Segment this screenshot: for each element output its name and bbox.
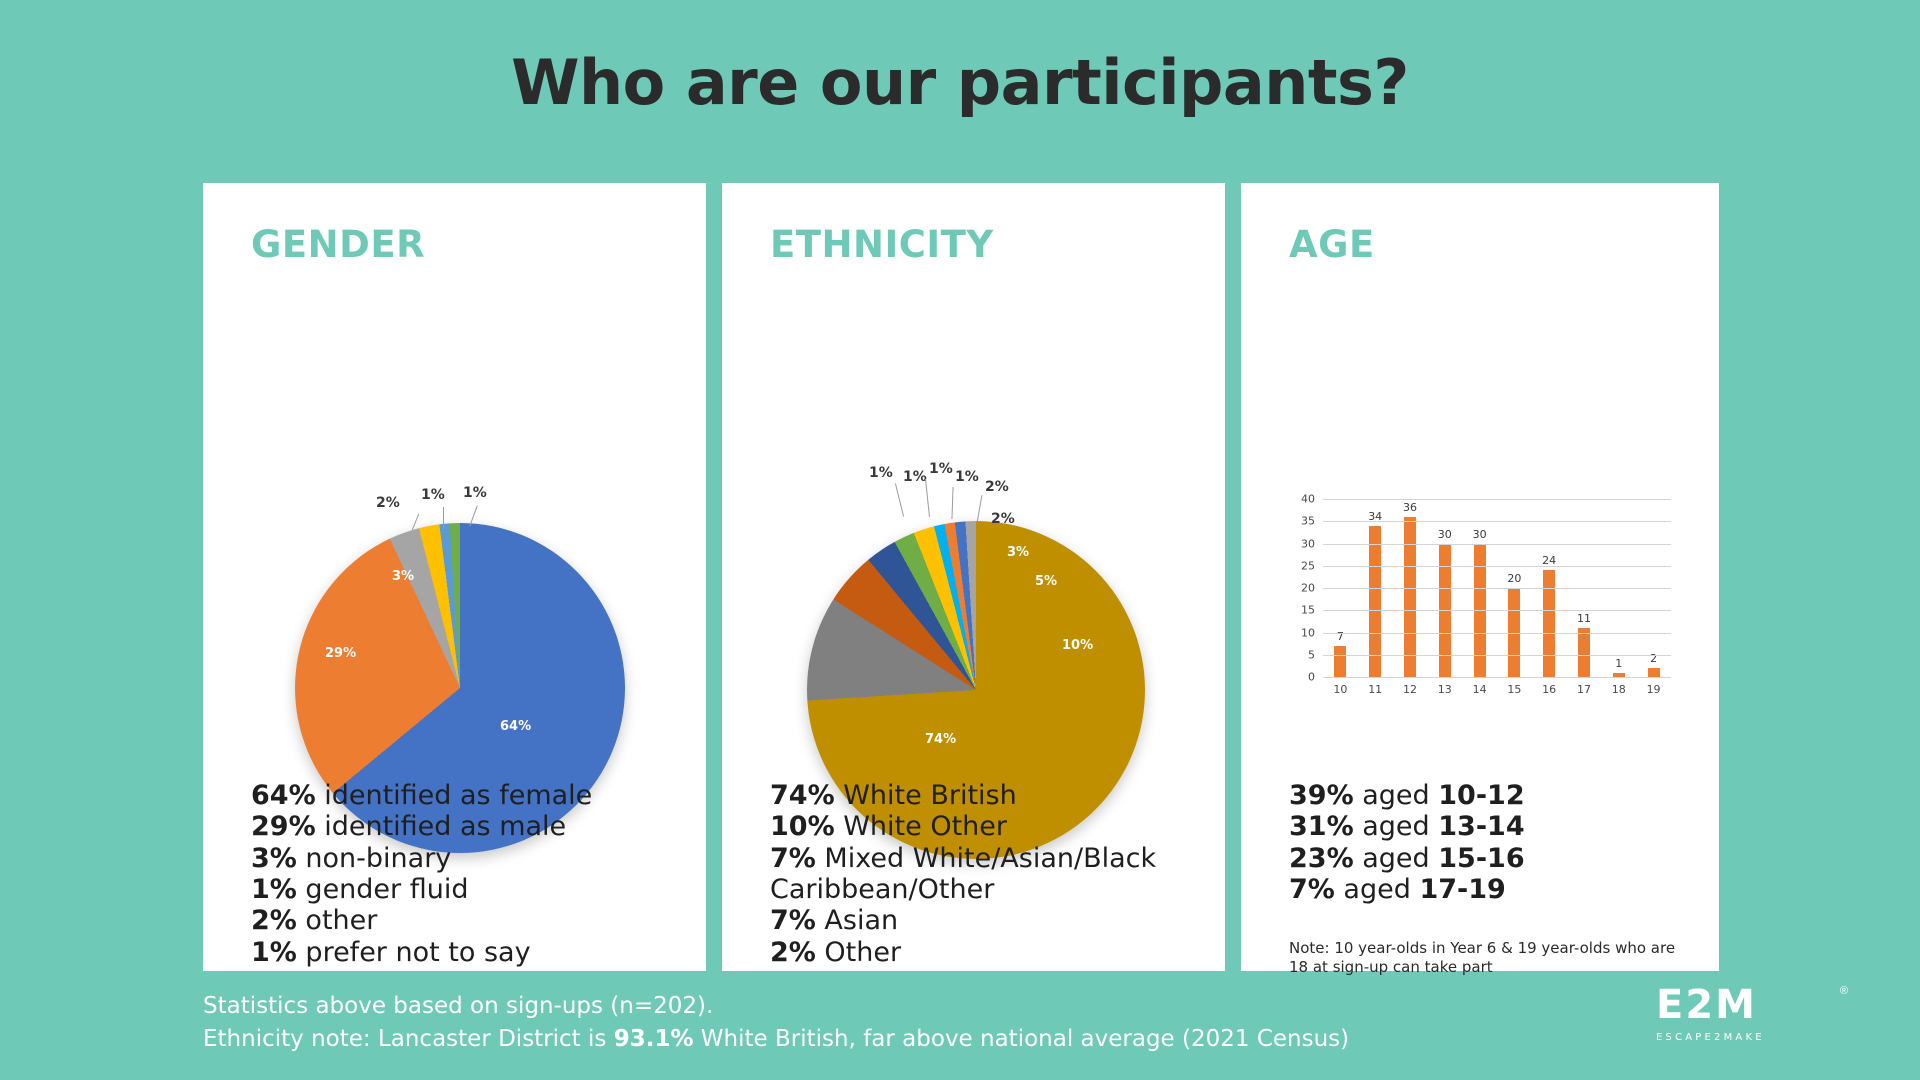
x-axis-tick-label: 17	[1567, 683, 1602, 696]
x-axis-tick-label: 10	[1323, 683, 1358, 696]
list-item: 64% identified as female	[251, 780, 684, 811]
stat-value: 1%	[251, 874, 297, 905]
list-item: 2% other	[251, 905, 684, 936]
panel-age: AGE 73436303020241112 4035302520151050 1…	[1241, 183, 1719, 971]
bar-value-label: 20	[1507, 572, 1521, 585]
y-axis-tick-label: 35	[1301, 515, 1315, 528]
gridline: 15	[1323, 610, 1671, 611]
gridline: 30	[1323, 544, 1671, 545]
list-item: 10% White Other	[770, 811, 1203, 842]
stat-value: 2%	[770, 937, 816, 968]
stat-value: 3%	[251, 843, 297, 874]
page-title: Who are our participants?	[0, 46, 1920, 119]
gridline: 10	[1323, 633, 1671, 634]
stat-label: White British	[835, 780, 1017, 811]
y-axis-tick-label: 10	[1301, 626, 1315, 639]
ethnicity-slice-label-asian: 5%	[1035, 574, 1057, 589]
panel-gender: GENDER 64% 29% 3% 2% 1% 1% 64% identifie…	[203, 183, 706, 971]
list-item: 74% White British	[770, 780, 1203, 811]
ethnicity-callout-label-2: 2%	[985, 479, 1009, 495]
ethnicity-callout-label-6: 1%	[869, 465, 893, 481]
stat-value: 7%	[1289, 874, 1335, 905]
x-axis-tick-label: 11	[1358, 683, 1393, 696]
gender-callout-label-genderfluid: 1%	[421, 487, 445, 503]
list-item: 3% non-binary	[251, 843, 684, 874]
gridline: 35	[1323, 521, 1671, 522]
x-axis-tick-label: 13	[1427, 683, 1462, 696]
bar-value-label: 30	[1438, 528, 1452, 541]
gender-slice-label-nonbinary: 3%	[392, 569, 414, 584]
list-item: 1% prefer not to say	[251, 937, 684, 968]
gridline: 20	[1323, 588, 1671, 589]
ethnicity-slice-label-whiteother: 10%	[1062, 638, 1093, 653]
x-axis-tick-label: 18	[1601, 683, 1636, 696]
panel-ethnicity: ETHNICITY 74% 10% 5% 3% 2% 2% 1% 1% 1% 1…	[722, 183, 1225, 971]
gridline: 5	[1323, 655, 1671, 656]
list-item: 2% Other	[770, 937, 1203, 968]
logo-registered-mark: ®	[1840, 985, 1848, 997]
ethnicity-callout-label-4: 1%	[929, 461, 953, 477]
list-item: 7% aged 17-19	[1289, 874, 1697, 905]
stat-label: non-binary	[297, 843, 451, 874]
stat-label: identified as female	[316, 780, 593, 811]
ethnicity-slice-label-mixed: 3%	[1007, 545, 1029, 560]
footer-text: Statistics above based on sign-ups (n=20…	[203, 990, 1349, 1057]
list-item: 1% gender fluid	[251, 874, 684, 905]
bar-value-label: 30	[1473, 528, 1487, 541]
stat-label: other	[297, 905, 378, 936]
stat-range: 15-16	[1438, 843, 1524, 874]
gender-leader-line-2	[443, 507, 444, 529]
age-bar-chart-xaxis: 10111213141516171819	[1323, 683, 1671, 696]
ethnicity-leader-line-1	[895, 483, 904, 516]
x-axis-tick-label: 12	[1393, 683, 1428, 696]
y-axis-tick-label: 30	[1301, 537, 1315, 550]
footer-line-2: Ethnicity note: Lancaster District is 93…	[203, 1023, 1349, 1056]
age-bar-chart-plot: 73436303020241112 4035302520151050	[1323, 499, 1671, 677]
stat-label: aged	[1354, 811, 1439, 842]
logo-mark: E2M	[1656, 985, 1846, 1025]
gender-callout-label-prefernotsay: 1%	[463, 485, 487, 501]
x-axis-tick-label: 19	[1636, 683, 1671, 696]
ethnicity-callout-label-3: 1%	[955, 469, 979, 485]
stat-label: prefer not to say	[297, 937, 531, 968]
footer-line-2-post: White British, far above national averag…	[694, 1026, 1350, 1052]
stat-value: 10%	[770, 811, 835, 842]
bar	[1648, 668, 1660, 677]
stat-label: Other	[816, 937, 901, 968]
stat-range: 10-12	[1438, 780, 1524, 811]
stat-label: identified as male	[316, 811, 567, 842]
panel-age-heading: AGE	[1289, 223, 1375, 266]
stat-label: White Other	[835, 811, 1007, 842]
gender-slice-label-female: 64%	[500, 719, 531, 734]
list-item: 39% aged 10-12	[1289, 780, 1697, 811]
x-axis-tick-label: 14	[1462, 683, 1497, 696]
bar	[1404, 517, 1416, 677]
bar-value-label: 36	[1403, 501, 1417, 514]
stat-value: 1%	[251, 937, 297, 968]
stat-label: Mixed White/Asian/Black Caribbean/Other	[770, 843, 1156, 905]
bar-value-label: 1	[1615, 657, 1622, 670]
y-axis-tick-label: 0	[1308, 671, 1315, 684]
stat-label: aged	[1335, 874, 1420, 905]
ethnicity-stats-list: 74% White British 10% White Other 7% Mix…	[770, 780, 1203, 968]
y-axis-tick-label: 40	[1301, 493, 1315, 506]
gridline: 40	[1323, 499, 1671, 500]
stat-range: 17-19	[1419, 874, 1505, 905]
ethnicity-callout-label-1: 2%	[991, 511, 1015, 527]
stat-label: gender fluid	[297, 874, 469, 905]
stat-value: 74%	[770, 780, 835, 811]
panel-gender-heading: GENDER	[251, 223, 425, 266]
age-bar-chart: 73436303020241112 4035302520151050 10111…	[1269, 493, 1689, 723]
list-item: 7% Asian	[770, 905, 1203, 936]
stat-label: aged	[1354, 843, 1439, 874]
gender-slice-label-male: 29%	[325, 646, 356, 661]
gridline: 0	[1323, 677, 1671, 678]
ethnicity-leader-line-2	[925, 479, 930, 517]
stat-label: aged	[1354, 780, 1439, 811]
stat-value: 7%	[770, 905, 816, 936]
list-item: 23% aged 15-16	[1289, 843, 1697, 874]
logo-subtitle: ESCAPE2MAKE	[1656, 1032, 1846, 1043]
panel-ethnicity-heading: ETHNICITY	[770, 223, 994, 266]
list-item: 7% Mixed White/Asian/Black Caribbean/Oth…	[770, 843, 1203, 906]
x-axis-tick-label: 15	[1497, 683, 1532, 696]
stat-range: 13-14	[1438, 811, 1524, 842]
list-item: 31% aged 13-14	[1289, 811, 1697, 842]
bar	[1578, 628, 1590, 677]
infographic-slide: Who are our participants? GENDER 64% 29%…	[0, 0, 1920, 1080]
y-axis-tick-label: 20	[1301, 582, 1315, 595]
ethnicity-callout-label-5: 1%	[903, 469, 927, 485]
age-note: Note: 10 year-olds in Year 6 & 19 year-o…	[1289, 939, 1691, 977]
ethnicity-slice-label-whitebritish: 74%	[925, 732, 956, 747]
x-axis-tick-label: 16	[1532, 683, 1567, 696]
stat-value: 7%	[770, 843, 816, 874]
bar-value-label: 11	[1577, 612, 1591, 625]
stat-value: 2%	[251, 905, 297, 936]
gender-callout-label-other: 2%	[376, 495, 400, 511]
age-stats-list: 39% aged 10-12 31% aged 13-14 23% aged 1…	[1289, 780, 1697, 905]
list-item: 29% identified as male	[251, 811, 684, 842]
ethnicity-leader-line-4	[977, 495, 983, 523]
gridline: 25	[1323, 566, 1671, 567]
ethnicity-leader-line-3	[951, 487, 953, 519]
stat-label: Asian	[816, 905, 898, 936]
footer-line-2-pre: Ethnicity note: Lancaster District is	[203, 1026, 614, 1052]
stat-value: 39%	[1289, 780, 1354, 811]
y-axis-tick-label: 15	[1301, 604, 1315, 617]
y-axis-tick-label: 25	[1301, 559, 1315, 572]
bar	[1334, 646, 1346, 677]
stat-value: 29%	[251, 811, 316, 842]
y-axis-tick-label: 5	[1308, 648, 1315, 661]
stat-value: 31%	[1289, 811, 1354, 842]
stat-value: 64%	[251, 780, 316, 811]
footer-line-1: Statistics above based on sign-ups (n=20…	[203, 990, 1349, 1023]
footer-line-2-highlight: 93.1%	[614, 1026, 694, 1052]
stat-value: 23%	[1289, 843, 1354, 874]
bar	[1543, 570, 1555, 677]
gender-stats-list: 64% identified as female 29% identified …	[251, 780, 684, 968]
escape2make-logo: E2M ® ESCAPE2MAKE	[1656, 985, 1846, 1055]
